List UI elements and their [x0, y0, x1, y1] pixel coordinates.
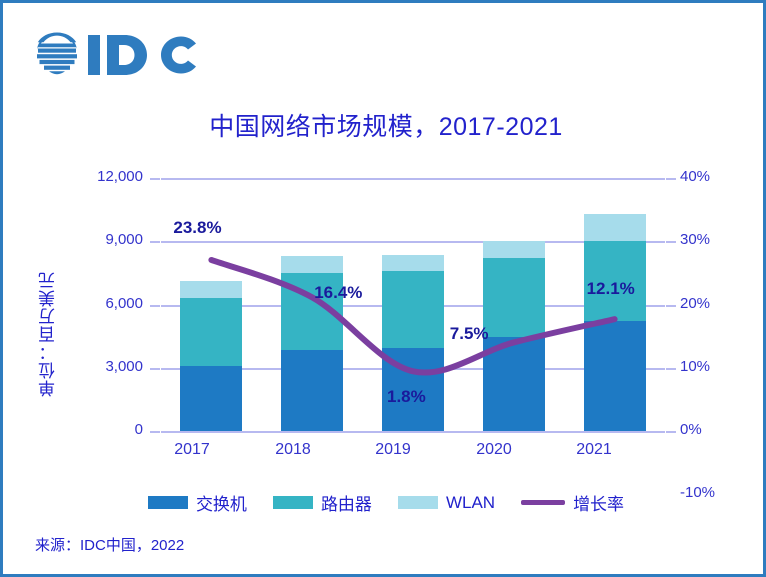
chart-legend: 交换机 路由器 WLAN 增长率 [3, 490, 766, 515]
legend-item-growth-rate[interactable]: 增长率 [521, 490, 624, 515]
y-tick-mark [150, 178, 160, 180]
y-tick-label: 3,000 [53, 358, 143, 375]
y-tick-label: 9,000 [53, 231, 143, 248]
growth-rate-label-2017: 23.8% [173, 218, 221, 238]
x-tick-label-2017: 2017 [152, 441, 232, 459]
growth-rate-label-2018: 16.4% [314, 283, 362, 303]
y2-tick-label: 40% [680, 168, 750, 185]
idc-logo [33, 29, 223, 81]
legend-swatch-icon [398, 496, 438, 509]
growth-rate-label-2021: 12.1% [587, 279, 635, 299]
page-title: 中国网络市场规模，2017-2021 [3, 107, 766, 143]
legend-line-icon [521, 500, 565, 505]
legend-item-router[interactable]: 路由器 [273, 490, 372, 515]
legend-label: 增长率 [573, 490, 624, 515]
legend-swatch-icon [273, 496, 313, 509]
gridline [161, 431, 665, 433]
legend-label: WLAN [446, 493, 495, 513]
legend-label: 交换机 [196, 490, 247, 515]
y2-tick-label: 0% [680, 421, 750, 438]
legend-label: 路由器 [321, 490, 372, 515]
chart-frame: 中国网络市场规模，2017-2021 单位：百万美元 12,000 9,000 … [0, 0, 766, 577]
y2-tick-label: 30% [680, 231, 750, 248]
y-tick-mark [150, 241, 160, 243]
y-tick-label: 0 [53, 421, 143, 438]
x-tick-label-2020: 2020 [454, 441, 534, 459]
y2-tick-mark [666, 241, 676, 243]
y-axis-title: 单位：百万美元 [36, 271, 56, 397]
y2-tick-mark [666, 305, 676, 307]
y2-tick-mark [666, 368, 676, 370]
growth-rate-label-2019: 1.8% [387, 387, 426, 407]
legend-swatch-icon [148, 496, 188, 509]
y2-tick-mark [666, 431, 676, 433]
y-tick-mark [150, 431, 160, 433]
y-tick-label: 12,000 [53, 168, 143, 185]
x-tick-label-2019: 2019 [353, 441, 433, 459]
plot-area: 12,000 9,000 6,000 3,000 0 40% 30% 20% 1… [161, 178, 665, 431]
x-tick-label-2021: 2021 [554, 441, 634, 459]
growth-rate-label-2020: 7.5% [450, 324, 489, 344]
legend-item-switch[interactable]: 交换机 [148, 490, 247, 515]
legend-item-wlan[interactable]: WLAN [398, 493, 495, 513]
y2-tick-mark [666, 178, 676, 180]
x-tick-label-2018: 2018 [253, 441, 333, 459]
source-note: 来源：IDC中国，2022 [35, 534, 184, 555]
y-tick-mark [150, 368, 160, 370]
y-tick-mark [150, 305, 160, 307]
y-tick-label: 6,000 [53, 295, 143, 312]
y2-tick-label: 20% [680, 295, 750, 312]
y2-tick-label: 10% [680, 358, 750, 375]
